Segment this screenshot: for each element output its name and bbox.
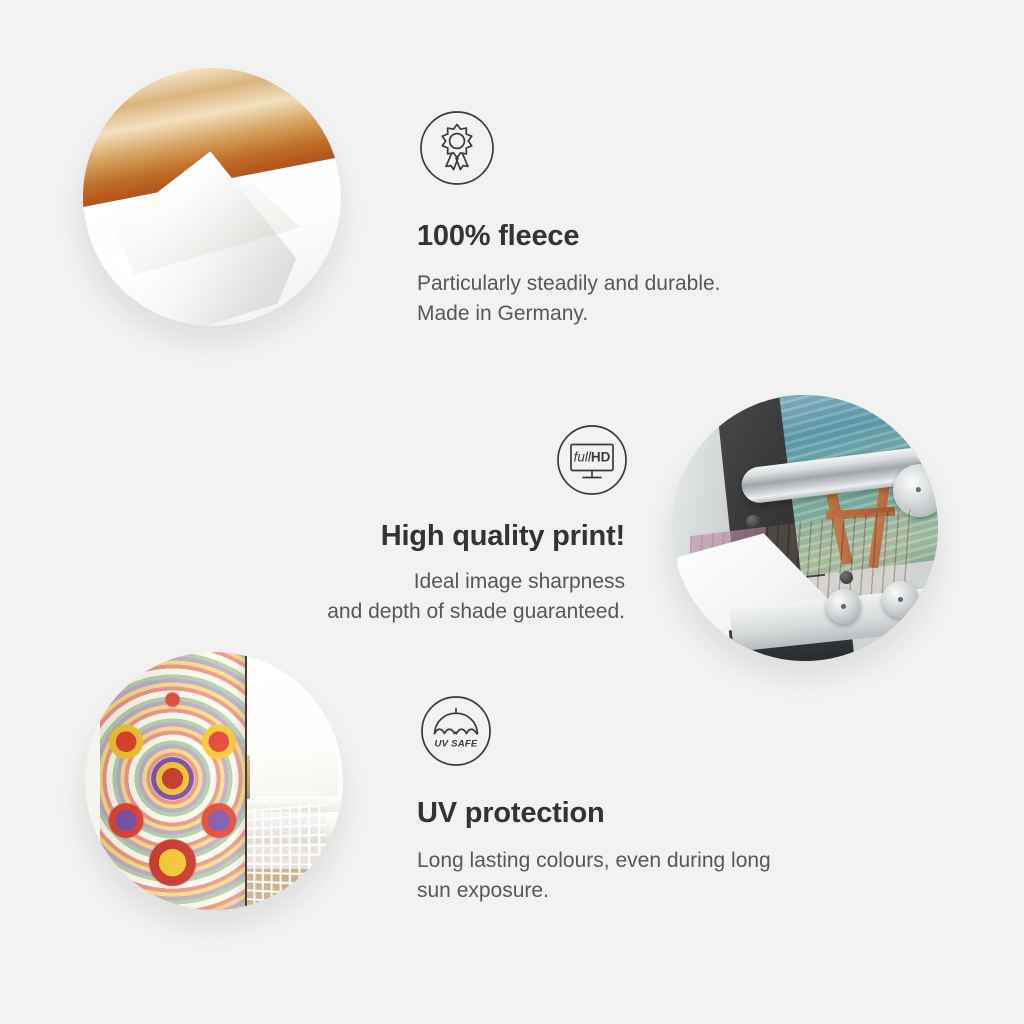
fullhd-label-italic: fullHD xyxy=(574,450,611,465)
feature-block-print: High quality print! Ideal image sharpnes… xyxy=(185,520,625,627)
fullhd-label-bold: HD xyxy=(591,450,611,465)
feature-block-uv: UV protection Long lasting colours, even… xyxy=(417,797,867,906)
feature-body: Ideal image sharpness and depth of shade… xyxy=(185,567,625,627)
fleece-photo-art xyxy=(83,68,341,326)
large-format-printer-photo xyxy=(672,395,938,661)
feature-body-line: and depth of shade guaranteed. xyxy=(185,597,625,627)
fullhd-monitor-icon: fullHD xyxy=(556,424,628,496)
feature-heading: High quality print! xyxy=(185,520,625,553)
uv-safe-umbrella-icon: UV SAFE xyxy=(419,694,493,768)
mandala-wallpaper-room-photo xyxy=(85,652,343,910)
feature-body-line: Made in Germany. xyxy=(417,299,857,329)
room-window xyxy=(245,667,338,801)
peeling-fleece-wallpaper-photo xyxy=(83,68,341,326)
uv-safe-label: UV SAFE xyxy=(435,739,478,750)
printer-knob xyxy=(746,515,759,528)
feature-body-line: Ideal image sharpness xyxy=(185,567,625,597)
feature-heading: UV protection xyxy=(417,797,867,830)
feature-heading: 100% fleece xyxy=(417,220,857,253)
wallpaper-panel-shading xyxy=(100,652,244,910)
printer-knob xyxy=(840,571,853,584)
feature-block-fleece: 100% fleece Particularly steadily and du… xyxy=(417,220,857,329)
feature-body-line: sun exposure. xyxy=(417,876,867,906)
room-photo-art xyxy=(85,652,343,910)
mandala-wallpaper-panel xyxy=(100,652,246,910)
infographic-stage: 100% fleece Particularly steadily and du… xyxy=(0,0,1024,1024)
feature-body-line: Long lasting colours, even during long xyxy=(417,846,867,876)
feature-body: Long lasting colours, even during long s… xyxy=(417,846,867,906)
feature-body-line: Particularly steadily and durable. xyxy=(417,269,857,299)
printer-photo-art xyxy=(672,395,938,661)
award-rosette-icon xyxy=(419,110,495,186)
printer-wheel xyxy=(826,589,861,624)
feature-body: Particularly steadily and durable. Made … xyxy=(417,269,857,329)
